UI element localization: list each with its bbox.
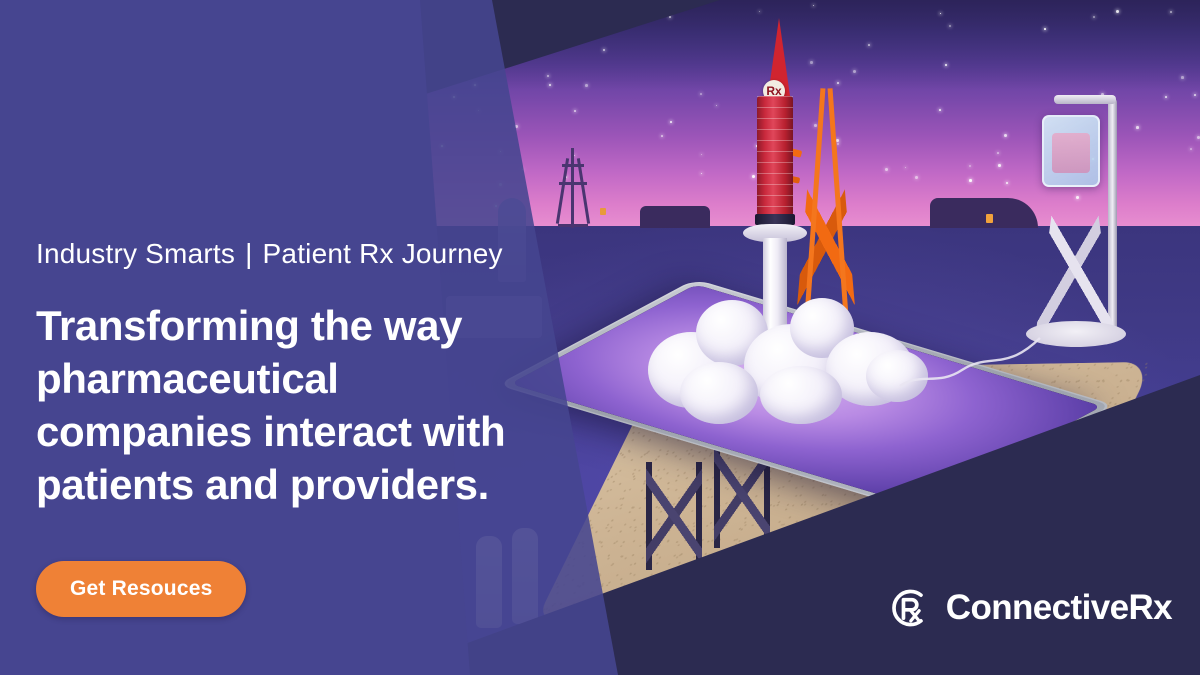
distant-window-light-2 xyxy=(600,208,606,215)
syringe-graduation-marks xyxy=(757,96,793,216)
star xyxy=(837,82,839,84)
distant-building-mid xyxy=(640,206,710,228)
star xyxy=(1190,148,1192,150)
star xyxy=(1093,16,1095,18)
distant-window-light xyxy=(986,214,993,223)
star xyxy=(939,109,941,111)
eyebrow-separator: | xyxy=(235,238,262,270)
star xyxy=(670,121,672,123)
star xyxy=(1194,94,1196,96)
star xyxy=(661,135,663,137)
star xyxy=(969,165,971,167)
iv-hook xyxy=(1054,95,1116,104)
star xyxy=(603,49,605,51)
star xyxy=(1165,96,1167,98)
iv-base-disc xyxy=(1026,321,1126,347)
star xyxy=(1004,134,1007,137)
star xyxy=(885,168,888,171)
connectiverx-logo[interactable]: ConnectiveRx xyxy=(886,585,1172,631)
star xyxy=(669,16,671,18)
eyebrow-topic: Patient Rx Journey xyxy=(263,238,503,269)
rocket-barrel xyxy=(757,96,793,216)
iv-support-frame xyxy=(1036,203,1114,331)
star xyxy=(905,167,906,168)
star xyxy=(716,105,717,106)
marketing-banner: Rx xyxy=(0,0,1200,675)
star xyxy=(759,11,760,12)
star xyxy=(701,173,702,174)
star xyxy=(915,176,918,179)
star xyxy=(940,13,941,14)
eyebrow-category: Industry Smarts xyxy=(36,238,235,269)
logo-wordmark: ConnectiveRx xyxy=(946,588,1172,628)
star xyxy=(949,25,951,27)
get-resources-button[interactable]: Get Resouces xyxy=(36,561,246,617)
star xyxy=(1116,10,1119,13)
star xyxy=(1006,182,1008,184)
iv-fluid xyxy=(1052,133,1090,173)
star xyxy=(997,152,999,154)
iv-bag-tower xyxy=(1020,85,1160,315)
cloud-plume xyxy=(640,270,960,430)
star xyxy=(1044,28,1046,30)
eyebrow-line: Industry Smarts|Patient Rx Journey xyxy=(36,238,503,270)
star xyxy=(1170,11,1172,13)
star xyxy=(700,93,702,95)
headline: Transforming the way pharmaceutical comp… xyxy=(36,300,556,512)
star xyxy=(853,70,856,73)
star xyxy=(701,154,702,155)
star xyxy=(945,64,947,66)
star xyxy=(585,84,588,87)
star xyxy=(868,44,870,46)
star xyxy=(998,164,1001,167)
iv-bag xyxy=(1042,115,1100,187)
star xyxy=(969,179,972,182)
rx-circle-icon xyxy=(886,585,932,631)
star xyxy=(1181,76,1184,79)
star xyxy=(813,5,814,6)
content-column: Industry Smarts|Patient Rx Journey Trans… xyxy=(36,0,576,675)
